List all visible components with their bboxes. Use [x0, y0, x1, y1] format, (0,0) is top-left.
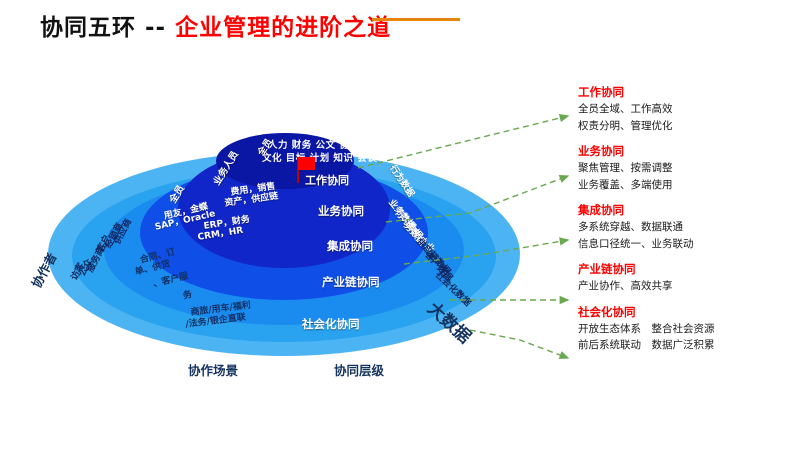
legend-line-social-2: 前后系统联动 数据广泛积累 [578, 337, 783, 354]
ring-label-chain: 产业链协同 [322, 274, 380, 290]
ring-label-work: 工作协同 [305, 172, 349, 188]
legend-line-work-1: 全员全域、工作高效 [578, 101, 783, 118]
slide-canvas: 协同五环 -- 企业管理的进阶之道 人力 财务 公文 协同 表单 行政 文化 目… [0, 0, 787, 464]
ring-label-integration: 集成协同 [327, 238, 373, 254]
legend-line-integration-2: 信息口径统一、业务联动 [578, 236, 783, 253]
legend-head-integration: 集成协同 [578, 202, 783, 219]
caption-level: 协同层级 [334, 360, 384, 379]
legend-head-social: 社会化协同 [578, 304, 783, 321]
legend-item-work[interactable]: 工作协同 全员全域、工作高效 权责分明、管理优化 [578, 84, 783, 134]
legend-item-chain[interactable]: 产业链协同 产业协作、高效共享 [578, 261, 783, 295]
legend-line-chain-1: 产业协作、高效共享 [578, 278, 783, 295]
legend-panel: 工作协同 全员全域、工作高效 权责分明、管理优化 业务协同 聚焦管理、按需调整 … [578, 84, 783, 363]
legend-item-integration[interactable]: 集成协同 多系统穿越、数据联通 信息口径统一、业务联动 [578, 202, 783, 252]
legend-line-work-2: 权责分明、管理优化 [578, 118, 783, 135]
legend-head-work: 工作协同 [578, 84, 783, 101]
legend-line-business-1: 聚焦管理、按需调整 [578, 160, 783, 177]
legend-head-business: 业务协同 [578, 143, 783, 160]
caption-scene: 协作场景 [188, 360, 238, 379]
legend-line-business-2: 业务覆盖、多端使用 [578, 177, 783, 194]
legend-line-social-1: 开放生态体系 整合社会资源 [578, 321, 783, 338]
legend-line-integration-1: 多系统穿越、数据联通 [578, 219, 783, 236]
legend-item-social[interactable]: 社会化协同 开放生态体系 整合社会资源 前后系统联动 数据广泛积累 [578, 304, 783, 354]
legend-head-chain: 产业链协同 [578, 261, 783, 278]
core-keywords-row2: 文化 目标 计划 知识 会议 物品 [262, 150, 401, 164]
ring-label-social: 社会化协同 [302, 316, 360, 332]
core-keywords-row1: 人力 财务 公文 协同 表单 行政 [268, 137, 407, 151]
ring-label-business: 业务协同 [318, 203, 364, 219]
legend-item-business[interactable]: 业务协同 聚焦管理、按需调整 业务覆盖、多端使用 [578, 143, 783, 193]
